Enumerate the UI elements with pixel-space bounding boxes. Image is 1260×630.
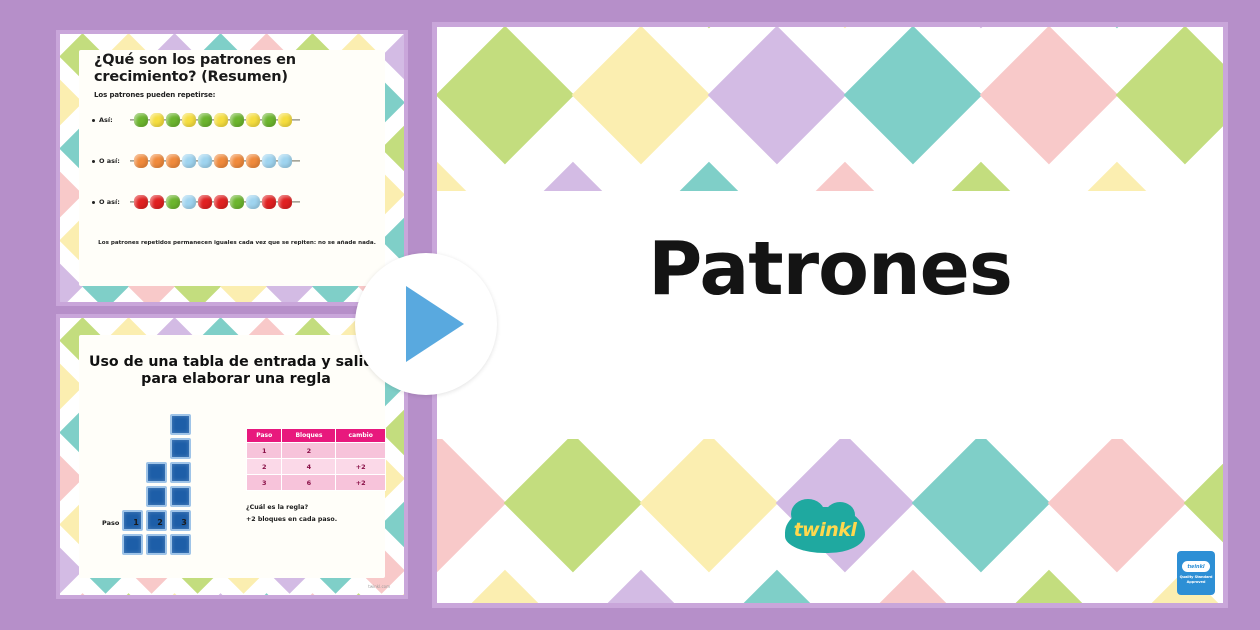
bead-string-1	[134, 112, 294, 128]
slide2-title: Uso de una tabla de entrada y salida par…	[88, 354, 384, 388]
pattern-diamond	[776, 27, 914, 28]
pattern-diamond	[152, 594, 199, 595]
bullet-icon	[92, 160, 95, 163]
step-axis-title: Paso	[102, 519, 124, 527]
main-slide-title: Patrones	[437, 226, 1223, 312]
slide1-title: ¿Qué son los patrones en crecimiento? (R…	[94, 52, 394, 86]
bead	[166, 154, 180, 168]
bead	[150, 154, 164, 168]
pattern-diamond	[844, 570, 982, 603]
bead	[198, 113, 212, 127]
bead	[246, 195, 260, 209]
bead	[246, 113, 260, 127]
table-body: 1224+236+2	[247, 443, 386, 491]
pattern-diamond	[290, 594, 337, 595]
slide1-subtitle: Los patrones pueden repetirse:	[94, 91, 215, 99]
block-square	[170, 462, 191, 483]
pattern-diamond	[504, 434, 642, 572]
pattern-diamond	[708, 27, 846, 164]
pattern-diamond	[1048, 434, 1186, 572]
bead-string-2	[134, 153, 294, 169]
bead	[246, 154, 260, 168]
pattern-diamond	[1184, 27, 1223, 28]
block-square	[170, 414, 191, 435]
table-cell: 6	[282, 475, 336, 491]
block-step-axis-labels: Paso123	[102, 518, 196, 527]
pattern-diamond	[60, 594, 106, 595]
block-square	[122, 534, 143, 555]
bead	[262, 154, 276, 168]
pattern-diamond	[640, 27, 778, 28]
bead	[198, 195, 212, 209]
bead	[134, 195, 148, 209]
pattern-diamond	[708, 570, 846, 603]
pattern-diamond	[336, 594, 383, 595]
table-row: 36+2	[247, 475, 386, 491]
block-square	[146, 462, 167, 483]
step-number-label: 3	[172, 518, 196, 527]
presentation-preview-page: ¿Qué son los patrones en crecimiento? (R…	[0, 0, 1260, 630]
bead	[230, 195, 244, 209]
block-square	[170, 534, 191, 555]
table-cell: 3	[247, 475, 282, 491]
slide-thumbnail-2[interactable]: Uso de una tabla de entrada y salida par…	[56, 314, 408, 599]
pattern-diamond	[1116, 27, 1223, 164]
table-header-cell: cambio	[336, 429, 386, 443]
bead	[150, 113, 164, 127]
bead	[230, 113, 244, 127]
bead	[134, 154, 148, 168]
bead	[182, 154, 196, 168]
twinkl-logo: twinkl	[785, 507, 865, 553]
block-column	[122, 510, 143, 555]
bead	[262, 113, 276, 127]
pattern-diamond	[437, 27, 506, 28]
bead	[134, 113, 148, 127]
pattern-diamond	[504, 27, 642, 28]
bead	[166, 195, 180, 209]
table-header-cell: Paso	[247, 429, 282, 443]
bead-row-2: O así:	[92, 153, 294, 169]
pattern-diamond	[1048, 27, 1186, 28]
block-square	[146, 486, 167, 507]
slide1-pattern-backdrop: ¿Qué son los patrones en crecimiento? (R…	[60, 34, 404, 302]
table-cell	[336, 443, 386, 459]
bead	[278, 195, 292, 209]
bead	[278, 154, 292, 168]
play-triangle-icon	[406, 286, 464, 362]
bead	[214, 113, 228, 127]
slide2-question: ¿Cuál es la regla?	[246, 504, 308, 511]
bead	[182, 195, 196, 209]
bead-row-2-label: O así:	[92, 157, 134, 165]
table-header-cell: Bloques	[282, 429, 336, 443]
block-column	[146, 462, 167, 555]
bead	[214, 195, 228, 209]
bead	[182, 113, 196, 127]
twinkl-logo-text: twinkl	[785, 507, 865, 553]
bullet-icon	[92, 119, 95, 122]
pattern-diamond	[980, 570, 1118, 603]
block-staircase-diagram	[122, 414, 191, 555]
block-square	[170, 438, 191, 459]
step-number-label: 1	[124, 518, 148, 527]
bead	[214, 154, 228, 168]
pattern-diamond	[572, 570, 710, 603]
badge-logo-text: twinkl	[1182, 561, 1210, 572]
slide2-pattern-backdrop: Uso de una tabla de entrada y salida par…	[60, 318, 404, 595]
bead	[262, 195, 276, 209]
pattern-diamond	[244, 594, 291, 595]
pattern-diamond	[912, 27, 1050, 28]
bead-row-3-label: O así:	[92, 198, 134, 206]
table-cell: 2	[282, 443, 336, 459]
table-cell: 2	[247, 459, 282, 475]
pattern-diamond	[844, 27, 982, 164]
bead	[278, 113, 292, 127]
pattern-diamond	[437, 570, 438, 603]
pattern-diamond	[198, 594, 245, 595]
block-column	[170, 414, 191, 555]
pattern-diamond	[437, 434, 506, 572]
table-cell: 4	[282, 459, 336, 475]
step-number-label: 2	[148, 518, 172, 527]
pattern-diamond	[912, 434, 1050, 572]
pattern-diamond	[640, 434, 778, 572]
quality-standard-badge: twinkl Quality Standard Approved	[1177, 551, 1215, 595]
pattern-diamond	[572, 27, 710, 164]
bead	[166, 113, 180, 127]
pattern-diamond	[437, 27, 574, 164]
slide1-footer-text: Los patrones repetidos permanecen iguale…	[92, 239, 382, 247]
slide2-credit: twinkl.com	[368, 584, 390, 589]
bead	[230, 154, 244, 168]
main-slide-preview[interactable]: Patrones twinkl twinkl Quality Standard …	[432, 22, 1228, 608]
bead-row-1: Así:	[92, 112, 294, 128]
pattern-diamond	[980, 27, 1118, 164]
badge-caption: Quality Standard Approved	[1177, 575, 1215, 585]
table-cell: 1	[247, 443, 282, 459]
pattern-diamond	[106, 594, 153, 595]
pattern-diamond	[382, 594, 404, 595]
bead	[198, 154, 212, 168]
block-square	[170, 486, 191, 507]
input-output-table: PasoBloquescambio 1224+236+2	[246, 428, 386, 491]
slide-thumbnail-1[interactable]: ¿Qué son los patrones en crecimiento? (R…	[56, 30, 408, 306]
bullet-icon	[92, 201, 95, 204]
table-cell: +2	[336, 459, 386, 475]
slide2-answer: +2 bloques en cada paso.	[246, 516, 337, 523]
table-row: 12	[247, 443, 386, 459]
pattern-diamond	[437, 570, 574, 603]
bead-row-3: O así:	[92, 194, 294, 210]
table-cell: +2	[336, 475, 386, 491]
table-row: 24+2	[247, 459, 386, 475]
bead-string-3	[134, 194, 294, 210]
bead	[150, 195, 164, 209]
bead-row-1-label: Así:	[92, 116, 134, 124]
table-header-row: PasoBloquescambio	[247, 429, 386, 443]
block-square	[146, 534, 167, 555]
play-button[interactable]	[355, 253, 497, 395]
